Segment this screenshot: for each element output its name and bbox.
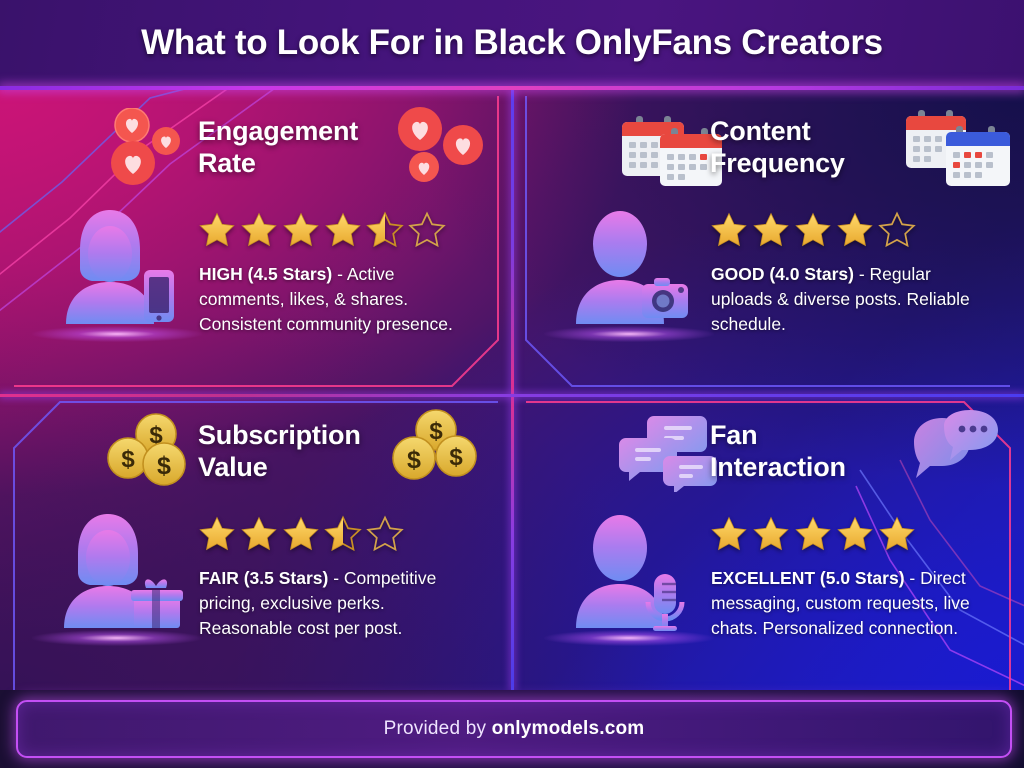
star-full-icon: [324, 211, 362, 249]
coin-cluster-icon: $ $ $: [104, 412, 200, 488]
footer-bar: Provided by onlymodels.com: [16, 700, 1012, 758]
star-full-icon: [836, 211, 874, 249]
star-full-icon: [282, 211, 320, 249]
card-title: Engagement Rate: [198, 116, 458, 179]
card-fan-interaction[interactable]: Fan Interaction EXCELLENT (5.0 Stars) - …: [512, 394, 1024, 690]
star-full-icon: [710, 211, 748, 249]
header-underline: [0, 86, 1024, 90]
avatar-glow: [32, 326, 202, 342]
card-title-line1: Fan: [710, 420, 757, 450]
star-full-icon: [198, 211, 236, 249]
card-title: Subscription Value: [198, 420, 458, 483]
card-title-line2: Value: [198, 452, 268, 482]
chat-bubbles-icon: [616, 412, 724, 492]
footer-zone: Provided by onlymodels.com: [0, 690, 1024, 768]
star-empty-icon: [366, 515, 404, 553]
content-stage: Engagement Rate HIGH (4.5 Stars) - Activ…: [0, 90, 1024, 690]
card-title-line1: Content: [710, 116, 811, 146]
male-with-camera-icon: [558, 198, 698, 333]
star-full-icon: [794, 515, 832, 553]
card-grade: HIGH (4.5 Stars): [199, 264, 332, 284]
card-title-line2: Interaction: [710, 452, 846, 482]
star-rating: [198, 210, 446, 250]
star-full-icon: [794, 211, 832, 249]
star-full-icon: [240, 211, 278, 249]
star-half-icon: [324, 515, 362, 553]
avatar-glow: [32, 630, 202, 646]
star-empty-icon: [878, 211, 916, 249]
svg-text:$: $: [121, 446, 135, 473]
star-full-icon: [752, 211, 790, 249]
card-title-line1: Engagement: [198, 116, 358, 146]
card-subscription-value[interactable]: $ $ $ $ $ $: [0, 394, 512, 690]
star-rating: [710, 514, 916, 554]
star-full-icon: [710, 515, 748, 553]
avatar-glow: [544, 326, 714, 342]
footer-brand: onlymodels.com: [492, 718, 645, 739]
footer-prefix: Provided by: [384, 718, 492, 739]
footer-attribution: Provided by onlymodels.com: [384, 718, 645, 740]
card-description: FAIR (3.5 Stars) - Competitive pricing, …: [199, 566, 481, 641]
star-full-icon: [836, 515, 874, 553]
star-full-icon: [198, 515, 236, 553]
avatar-glow: [544, 630, 714, 646]
page-title: What to Look For in Black OnlyFans Creat…: [0, 0, 1024, 86]
star-rating: [198, 514, 404, 554]
card-content-frequency[interactable]: Content Frequency GOOD (4.0 Stars) - Reg…: [512, 90, 1024, 392]
female-with-phone-icon: [46, 198, 186, 333]
card-description: EXCELLENT (5.0 Stars) - Direct messaging…: [711, 566, 993, 641]
card-title-line1: Subscription: [198, 420, 361, 450]
card-title-line2: Frequency: [710, 148, 845, 178]
card-grade: GOOD (4.0 Stars): [711, 264, 854, 284]
star-half-icon: [366, 211, 404, 249]
female-with-gift-icon: [46, 502, 186, 637]
star-empty-icon: [408, 211, 446, 249]
header-band: What to Look For in Black OnlyFans Creat…: [0, 0, 1024, 86]
card-engagement-rate[interactable]: Engagement Rate HIGH (4.5 Stars) - Activ…: [0, 90, 512, 392]
svg-text:$: $: [157, 452, 171, 480]
card-grade: EXCELLENT (5.0 Stars): [711, 568, 905, 588]
card-description: HIGH (4.5 Stars) - Active comments, like…: [199, 262, 481, 337]
infographic-root: What to Look For in Black OnlyFans Creat…: [0, 0, 1024, 768]
male-with-microphone-icon: [558, 502, 698, 637]
card-title: Fan Interaction: [710, 420, 970, 483]
card-title-line2: Rate: [198, 148, 256, 178]
star-full-icon: [878, 515, 916, 553]
star-full-icon: [240, 515, 278, 553]
card-grade: FAIR (3.5 Stars): [199, 568, 328, 588]
star-rating: [710, 210, 916, 250]
star-full-icon: [282, 515, 320, 553]
card-title: Content Frequency: [710, 116, 970, 179]
heart-cluster-icon: [104, 108, 196, 186]
card-description: GOOD (4.0 Stars) - Regular uploads & div…: [711, 262, 993, 337]
star-full-icon: [752, 515, 790, 553]
